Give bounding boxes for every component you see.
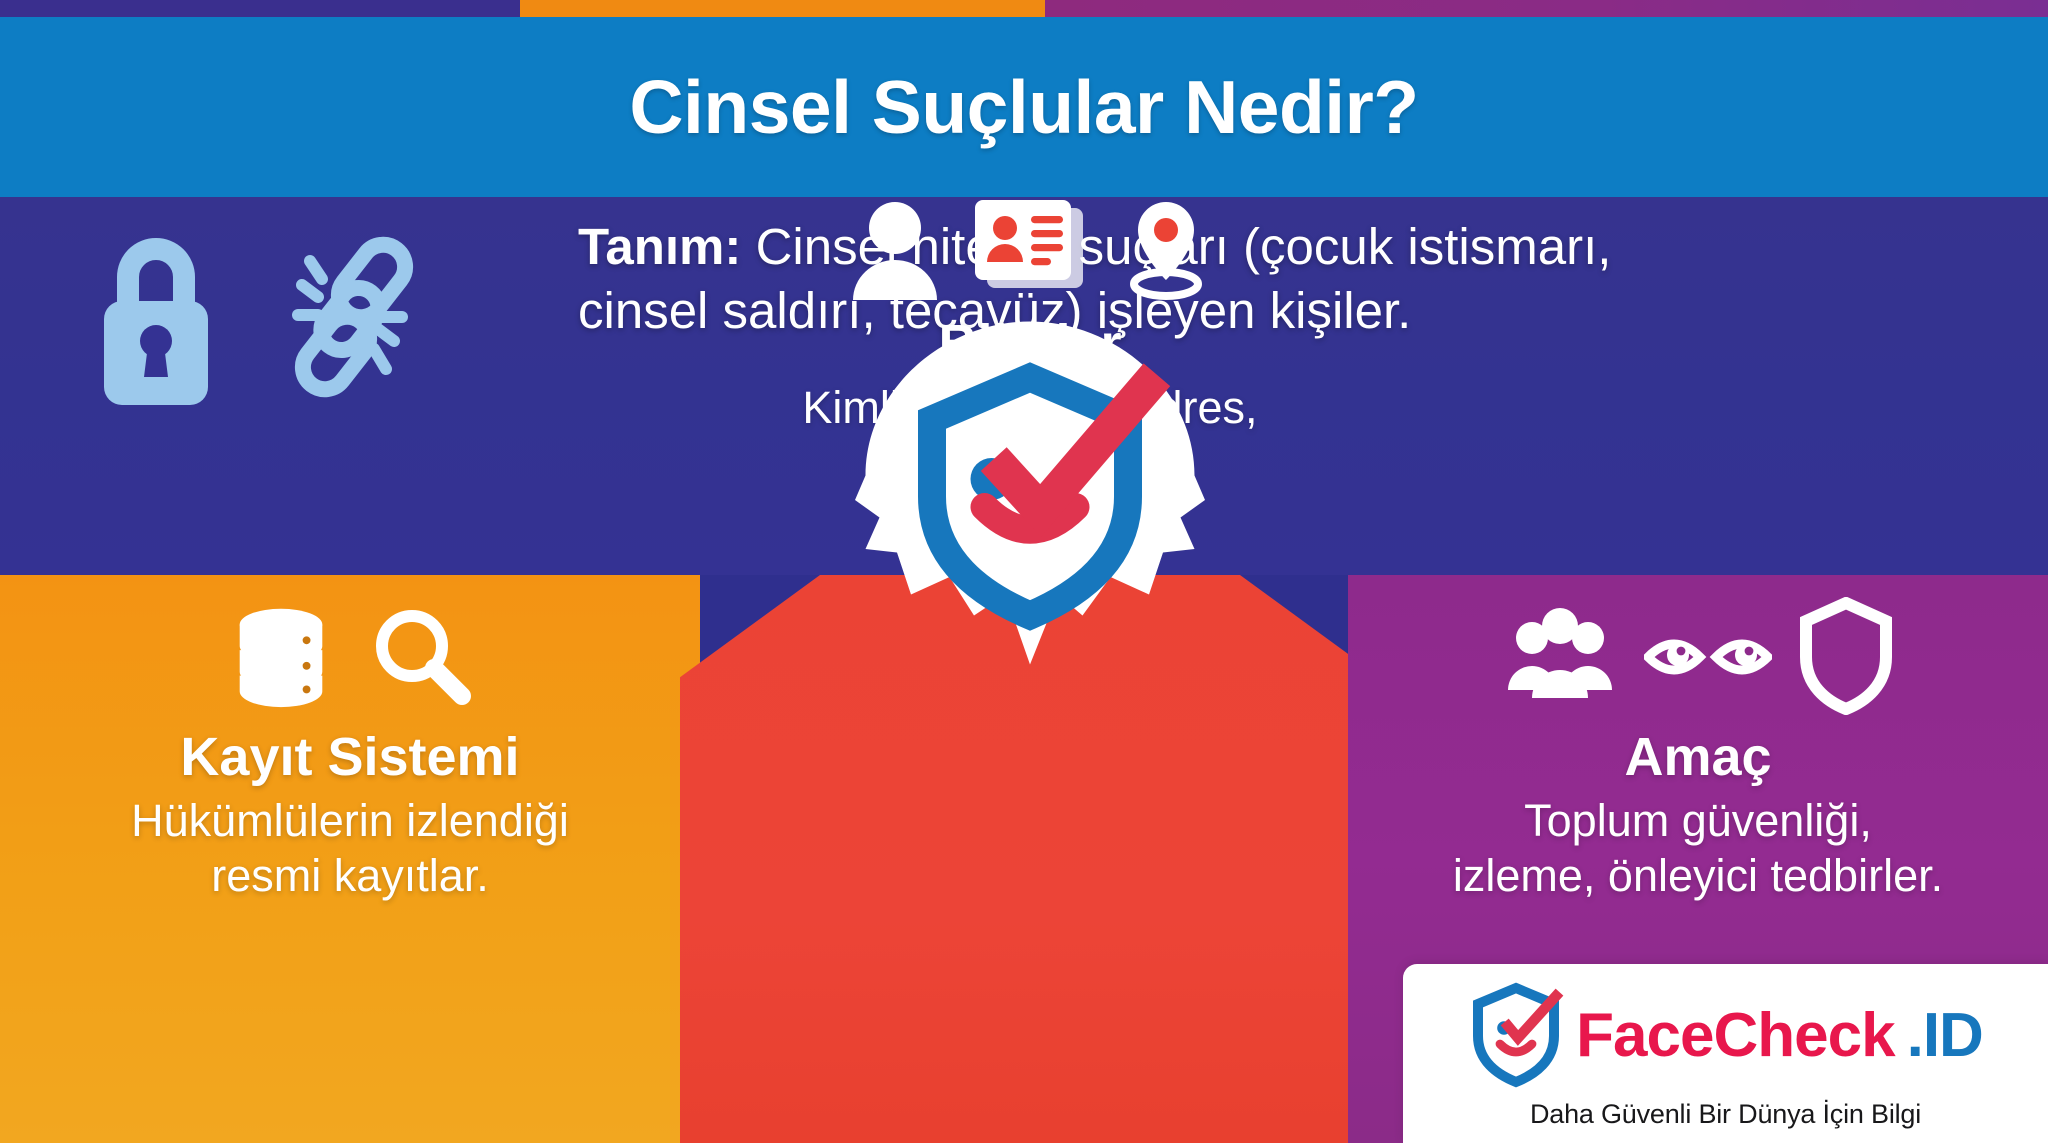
logo-brand-primary: FaceCheck: [1576, 1005, 1894, 1067]
panel-left-desc-line1: Hükümlülerin izlendiği: [131, 795, 569, 846]
facecheck-logo-card[interactable]: FaceCheck .ID Daha Güvenli Bir Dünya İçi…: [1403, 964, 2048, 1143]
top-strip-purple: [0, 0, 520, 17]
panel-left-desc: Hükümlülerin izlendiği resmi kayıtlar.: [20, 794, 680, 904]
panel-left-icon-row: [222, 597, 478, 720]
panel-right-desc: Toplum güvenliği, izleme, önleyici tedbi…: [1368, 794, 2028, 904]
id-card-icon: [971, 196, 1093, 307]
logo-brand-secondary: .ID: [1907, 1005, 1983, 1067]
header-banner: Cinsel Suçlular Nedir?: [0, 17, 2048, 197]
panel-right-title: Amaç: [1624, 726, 1771, 788]
logo-row: FaceCheck .ID: [1468, 980, 1983, 1093]
definition-icon-row: [88, 225, 430, 416]
panel-left-desc-line2: resmi kayıtlar.: [211, 850, 489, 901]
page-title: Cinsel Suçlular Nedir?: [629, 64, 1418, 150]
search-icon: [366, 600, 478, 717]
infographic-canvas: Cinsel Suçlular Nedir?: [0, 0, 2048, 1143]
person-icon: [847, 196, 945, 307]
top-strip-magenta: [1045, 0, 2048, 17]
shield-icon: [1798, 597, 1894, 720]
facecheck-logo-icon: [1468, 980, 1564, 1093]
broken-chain-icon: [270, 225, 430, 416]
padlock-icon: [88, 225, 224, 416]
panel-right-icon-row: [1502, 597, 1894, 720]
eyes-icon: [1644, 621, 1772, 696]
people-group-icon: [1502, 606, 1618, 711]
facecheck-shield-badge: [855, 318, 1205, 668]
definition-text: Tanım: Cinsel nitelikli suçları (çocuk i…: [578, 215, 1928, 344]
panel-kayit-sistemi: Kayıt Sistemi Hükümlülerin izlendiği res…: [0, 575, 700, 1143]
logo-tagline: Daha Güvenli Bir Dünya İçin Bilgi: [1530, 1099, 1921, 1130]
panel-left-title: Kayıt Sistemi: [180, 726, 519, 788]
database-icon: [222, 597, 340, 720]
panel-center-icon-row: [847, 196, 1213, 307]
top-strip-orange: [520, 0, 1045, 17]
definition-lead-label: Tanım:: [578, 218, 756, 275]
panel-right-desc-line1: Toplum güvenliği,: [1524, 795, 1872, 846]
panel-right-desc-line2: izleme, önleyici tedbirler.: [1453, 850, 1943, 901]
location-pin-icon: [1119, 196, 1213, 307]
